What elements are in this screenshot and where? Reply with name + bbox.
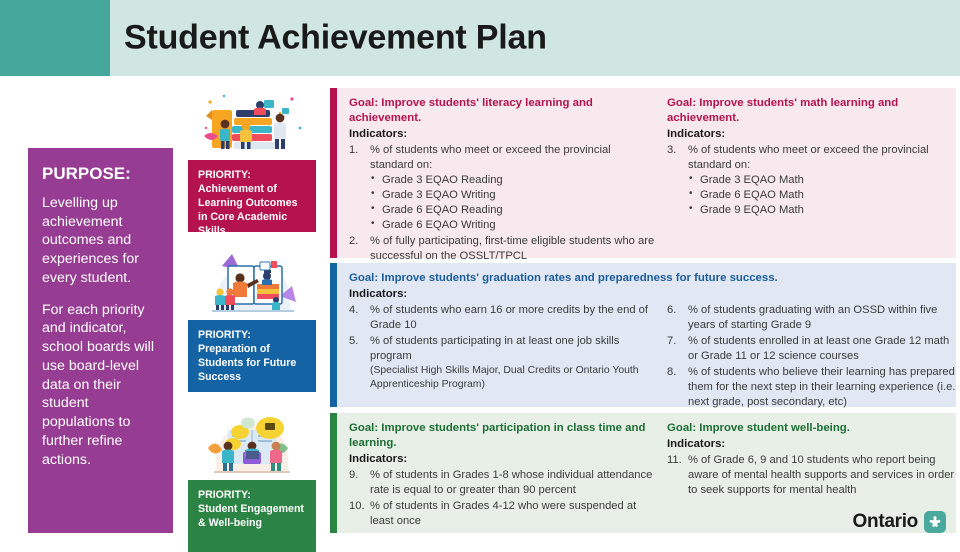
indicator-item: 6. % of students graduating with an OSSD…	[667, 303, 958, 333]
indicator-note: (Specialist High Skills Major, Dual Cred…	[370, 364, 657, 391]
indicator-number: 2.	[349, 234, 368, 249]
goal-column-participation: Goal: Improve students' participation in…	[349, 421, 667, 527]
sub-item: Grade 3 EQAO Math	[688, 173, 958, 188]
sub-item: Grade 9 EQAO Math	[688, 203, 958, 218]
indicators-label-literacy: Indicators:	[349, 127, 657, 142]
indicator-list-graduation-right: 6. % of students graduating with an OSSD…	[667, 303, 958, 409]
indicator-number: 10.	[349, 499, 368, 514]
indicator-text: % of students graduating with an OSSD wi…	[688, 304, 937, 331]
indicator-list-graduation-left: 4. % of students who earn 16 or more cre…	[349, 303, 657, 391]
indicator-number: 5.	[349, 334, 368, 349]
indicator-item: 5. % of students participating in at lea…	[349, 334, 657, 391]
indicator-text: % of students enrolled in at least one G…	[688, 335, 949, 362]
sub-item: Grade 3 EQAO Reading	[370, 173, 657, 188]
indicator-text: % of fully participating, first-time eli…	[370, 235, 654, 262]
priority-name-2: Preparation of Students for Future Succe…	[198, 343, 307, 384]
priority-name-1: Achievement of Learning Outcomes in Core…	[198, 183, 307, 238]
indicator-item: 4. % of students who earn 16 or more cre…	[349, 303, 657, 333]
indicator-number: 11.	[667, 453, 686, 468]
indicator-item: 3. % of students who meet or exceed the …	[667, 143, 958, 218]
priority-label-2: PRIORITY:	[198, 329, 307, 342]
priority-name-3: Student Engagement & Well-being	[198, 503, 307, 531]
goal-accent-bar-2	[330, 263, 337, 407]
purpose-panel: PURPOSE: Levelling up achievement outcom…	[28, 148, 173, 533]
purpose-paragraph-2: For each priority and indicator, school …	[42, 301, 159, 470]
priority-card-3: PRIORITY: Student Engagement & Well-bein…	[188, 408, 316, 552]
page-title: Student Achievement Plan	[124, 19, 547, 58]
indicator-text: % of Grade 6, 9 and 10 students who repo…	[688, 454, 954, 496]
purpose-paragraph-1: Levelling up achievement outcomes and ex…	[42, 194, 159, 288]
goal-column-graduation-left: 4. % of students who earn 16 or more cre…	[349, 302, 667, 409]
indicator-number: 3.	[667, 143, 686, 158]
priority-box-3: PRIORITY: Student Engagement & Well-bein…	[188, 480, 316, 552]
priority-box-2: PRIORITY: Preparation of Students for Fu…	[188, 320, 316, 392]
indicator-item: 10. % of students in Grades 4-12 who wer…	[349, 499, 657, 529]
priority-label-3: PRIORITY:	[198, 489, 307, 502]
indicator-text: % of students who meet or exceed the pro…	[370, 144, 611, 171]
indicator-item: 1. % of students who meet or exceed the …	[349, 143, 657, 233]
indicator-sublist: Grade 3 EQAO Math Grade 6 EQAO Math Grad…	[688, 173, 958, 218]
goal-title-wellbeing: Goal: Improve student well-being.	[667, 421, 958, 436]
priority-label-1: PRIORITY:	[198, 169, 307, 182]
indicator-number: 7.	[667, 334, 686, 349]
indicator-text: % of students who meet or exceed the pro…	[688, 144, 929, 171]
priority-card-2: PRIORITY: Preparation of Students for Fu…	[188, 248, 316, 392]
header-accent-block	[0, 0, 110, 76]
sub-item: Grade 3 EQAO Writing	[370, 188, 657, 203]
goal-column-math: Goal: Improve students' math learning an…	[667, 96, 958, 252]
indicator-text: % of students who earn 16 or more credit…	[370, 304, 648, 331]
indicator-number: 1.	[349, 143, 368, 158]
indicators-label-graduation: Indicators:	[349, 287, 958, 302]
purpose-title: PURPOSE:	[42, 164, 159, 184]
slide-canvas: Student Achievement Plan PURPOSE: Levell…	[0, 0, 960, 540]
goal-title-graduation: Goal: Improve students' graduation rates…	[349, 271, 958, 286]
indicator-item: 2. % of fully participating, first-time …	[349, 234, 657, 264]
indicator-text: % of students who believe their learning…	[688, 366, 955, 408]
indicator-item: 11. % of Grade 6, 9 and 10 students who …	[667, 453, 958, 498]
students-with-books-illustration	[188, 88, 316, 160]
indicator-sublist: Grade 3 EQAO Reading Grade 3 EQAO Writin…	[370, 173, 657, 233]
goal-column-literacy: Goal: Improve students' literacy learnin…	[349, 96, 667, 252]
ontario-logo: Ontario	[853, 511, 946, 533]
indicator-list-math: 3. % of students who meet or exceed the …	[667, 143, 958, 218]
indicator-text: % of students in Grades 1-8 whose indivi…	[370, 469, 652, 496]
indicator-list-wellbeing: 11. % of Grade 6, 9 and 10 students who …	[667, 453, 958, 498]
indicator-item: 9. % of students in Grades 1-8 whose ind…	[349, 468, 657, 498]
sub-item: Grade 6 EQAO Math	[688, 188, 958, 203]
ontario-trillium-icon	[924, 511, 946, 533]
goal-panel-graduation: Goal: Improve students' graduation rates…	[330, 263, 956, 407]
ontario-wordmark: Ontario	[853, 511, 918, 533]
teacher-at-board-illustration	[188, 248, 316, 320]
goal-accent-bar-3	[330, 413, 337, 533]
indicator-list-literacy: 1. % of students who meet or exceed the …	[349, 143, 657, 264]
indicator-text: % of students participating in at least …	[370, 335, 619, 362]
priority-card-1: PRIORITY: Achievement of Learning Outcom…	[188, 88, 316, 232]
indicator-number: 9.	[349, 468, 368, 483]
sub-item: Grade 6 EQAO Reading	[370, 203, 657, 218]
header-band: Student Achievement Plan	[0, 0, 960, 76]
students-collaborating-illustration	[188, 408, 316, 480]
indicators-label-participation: Indicators:	[349, 452, 657, 467]
indicator-text: % of students in Grades 4-12 who were su…	[370, 500, 636, 527]
goal-title-participation: Goal: Improve students' participation in…	[349, 421, 657, 451]
goal-column-graduation-right: 6. % of students graduating with an OSSD…	[667, 302, 958, 409]
goal-title-literacy: Goal: Improve students' literacy learnin…	[349, 96, 657, 126]
indicator-item: 7. % of students enrolled in at least on…	[667, 334, 958, 364]
indicator-list-participation: 9. % of students in Grades 1-8 whose ind…	[349, 468, 657, 529]
goal-title-math: Goal: Improve students' math learning an…	[667, 96, 958, 126]
indicator-number: 8.	[667, 365, 686, 380]
priority-box-1: PRIORITY: Achievement of Learning Outcom…	[188, 160, 316, 232]
indicators-label-math: Indicators:	[667, 127, 958, 142]
indicator-number: 4.	[349, 303, 368, 318]
indicators-label-wellbeing: Indicators:	[667, 437, 958, 452]
goal-panel-literacy-math: Goal: Improve students' literacy learnin…	[330, 88, 956, 258]
indicator-number: 6.	[667, 303, 686, 318]
indicator-item: 8. % of students who believe their learn…	[667, 365, 958, 410]
sub-item: Grade 6 EQAO Writing	[370, 218, 657, 233]
goal-accent-bar-1	[330, 88, 337, 258]
